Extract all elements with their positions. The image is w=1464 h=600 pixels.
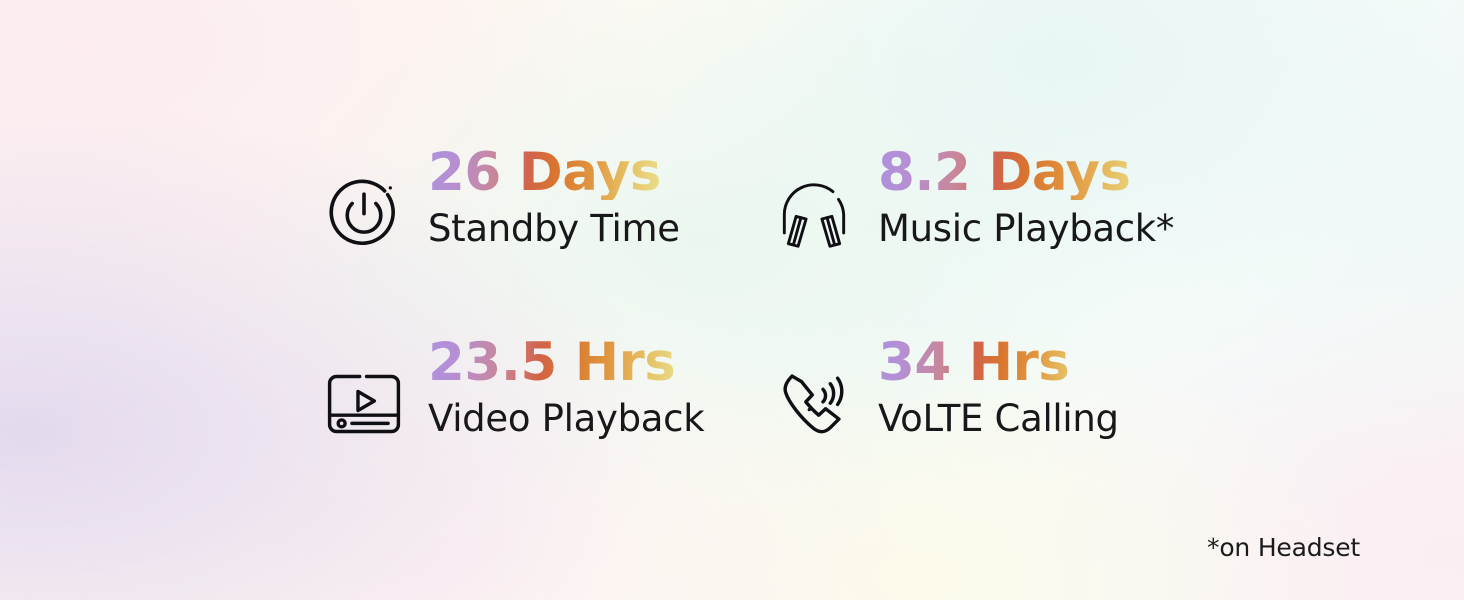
spec-value: 8.2 Days — [878, 146, 1174, 200]
power-icon — [318, 164, 410, 264]
spec-item-standby-time: 26 Days Standby Time — [318, 140, 768, 330]
spec-label: VoLTE Calling — [878, 396, 1119, 441]
spec-label: Standby Time — [428, 206, 680, 251]
spec-text: 26 Days Standby Time — [428, 140, 680, 251]
headphones-icon — [768, 164, 860, 264]
video-player-icon — [318, 354, 410, 454]
spec-text: 34 Hrs VoLTE Calling — [878, 330, 1119, 441]
spec-label: Music Playback* — [878, 206, 1174, 251]
phone-call-icon — [768, 354, 860, 454]
spec-item-video-playback: 23.5 Hrs Video Playback — [318, 330, 768, 520]
spec-value: 26 Days — [428, 146, 680, 200]
spec-value: 23.5 Hrs — [428, 336, 704, 390]
spec-value: 34 Hrs — [878, 336, 1119, 390]
infographic-stage: 26 Days Standby Time 8.2 Days Music Play… — [0, 0, 1464, 600]
spec-item-music-playback: 8.2 Days Music Playback* — [768, 140, 1218, 330]
spec-text: 8.2 Days Music Playback* — [878, 140, 1174, 251]
footnote: *on Headset — [1207, 533, 1360, 562]
spec-grid: 26 Days Standby Time 8.2 Days Music Play… — [318, 140, 1218, 520]
spec-item-volte-calling: 34 Hrs VoLTE Calling — [768, 330, 1218, 520]
spec-text: 23.5 Hrs Video Playback — [428, 330, 704, 441]
spec-label: Video Playback — [428, 396, 704, 441]
